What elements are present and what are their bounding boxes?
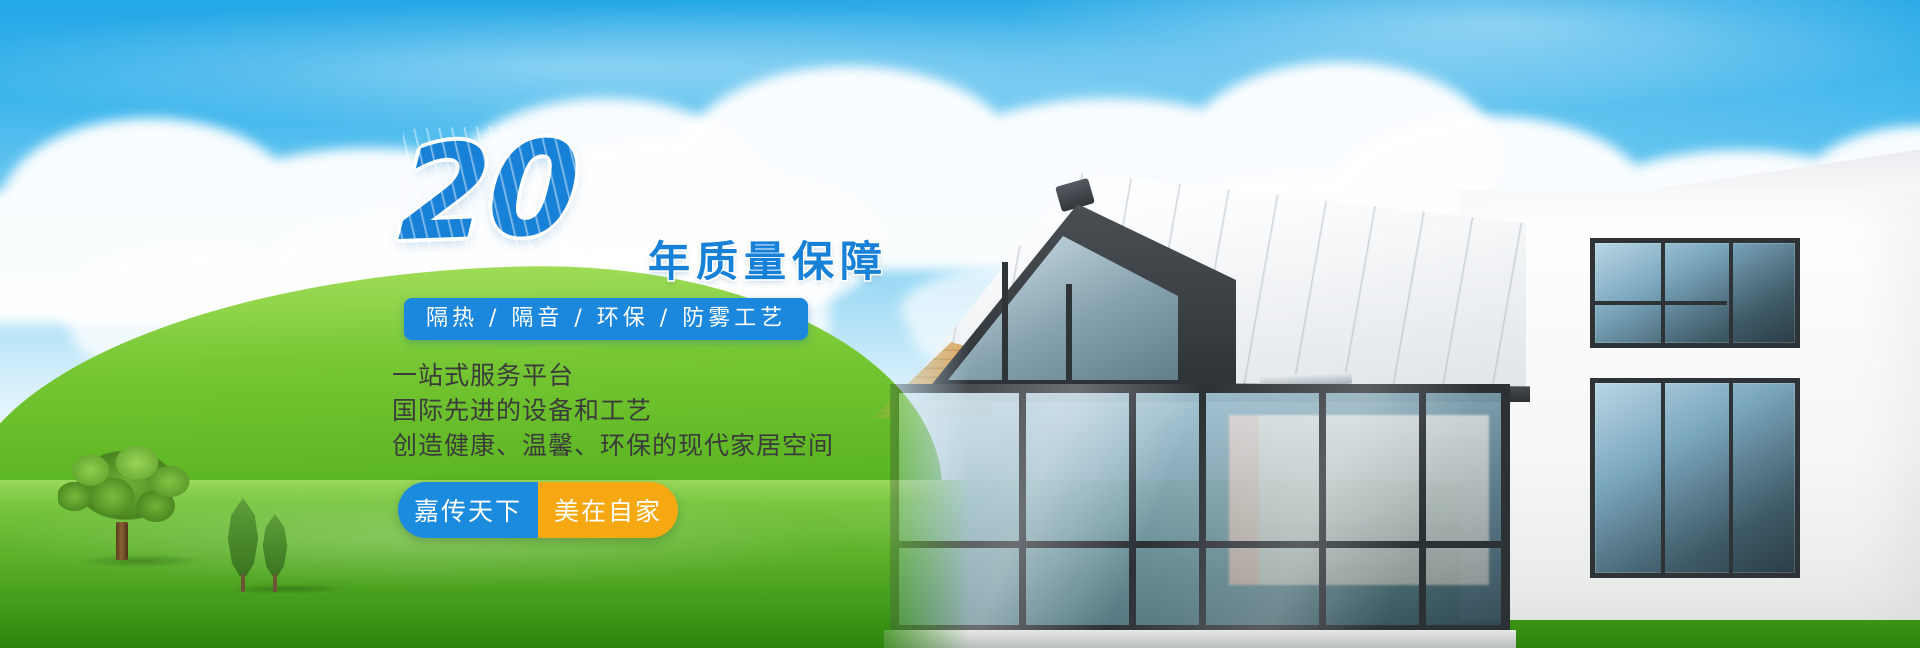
sunroom-base: [884, 630, 1516, 648]
gable-mullion: [1066, 284, 1072, 380]
cta-secondary-button[interactable]: 美在自家: [538, 482, 678, 538]
interior-view: [1229, 415, 1489, 585]
upper-window: [1590, 238, 1800, 348]
feature-pill: 隔热 / 隔音 / 环保 / 防雾工艺: [404, 298, 808, 340]
gable-mullion: [1002, 262, 1008, 380]
lower-window: [1590, 378, 1800, 578]
sunroom-glazing: [890, 384, 1510, 634]
description-line-1: 一站式服务平台: [392, 358, 834, 393]
description-line-2: 国际先进的设备和工艺: [392, 393, 834, 428]
cta-primary-button[interactable]: 嘉传天下: [398, 482, 538, 538]
years-number: 20: [396, 123, 580, 259]
headline-text: 年质量保障: [648, 228, 888, 289]
promo-banner: 20 年质量保障 隔热 / 隔音 / 环保 / 防雾工艺 一站式服务平台 国际先…: [0, 0, 1920, 648]
glass-sunroom: [850, 128, 1570, 648]
description-block: 一站式服务平台 国际先进的设备和工艺 创造健康、温馨、环保的现代家居空间: [392, 358, 834, 463]
banner-copy: 20 年质量保障 隔热 / 隔音 / 环保 / 防雾工艺 一站式服务平台 国际先…: [0, 0, 900, 648]
description-line-3: 创造健康、温馨、环保的现代家居空间: [392, 428, 834, 463]
sunroom-photo: [820, 0, 1920, 648]
cta-button-group[interactable]: 嘉传天下 美在自家: [398, 482, 678, 538]
